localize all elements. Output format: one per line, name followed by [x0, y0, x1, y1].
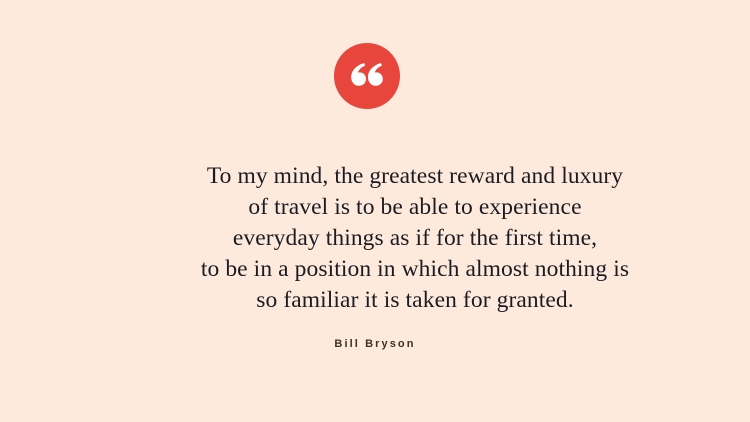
quote-badge	[334, 43, 400, 109]
quote-line: of travel is to be able to experience	[40, 192, 750, 223]
quote-line: to be in a position in which almost noth…	[40, 254, 750, 285]
quote-line: everyday things as if for the first time…	[40, 223, 750, 254]
quote-text: To my mind, the greatest reward and luxu…	[40, 161, 750, 316]
quotation-mark-icon	[350, 61, 384, 91]
quote-author: Bill Bryson	[0, 338, 750, 350]
quote-line: To my mind, the greatest reward and luxu…	[40, 161, 750, 192]
quote-line: so familiar it is taken for granted.	[40, 285, 750, 316]
quote-card: To my mind, the greatest reward and luxu…	[0, 0, 750, 422]
